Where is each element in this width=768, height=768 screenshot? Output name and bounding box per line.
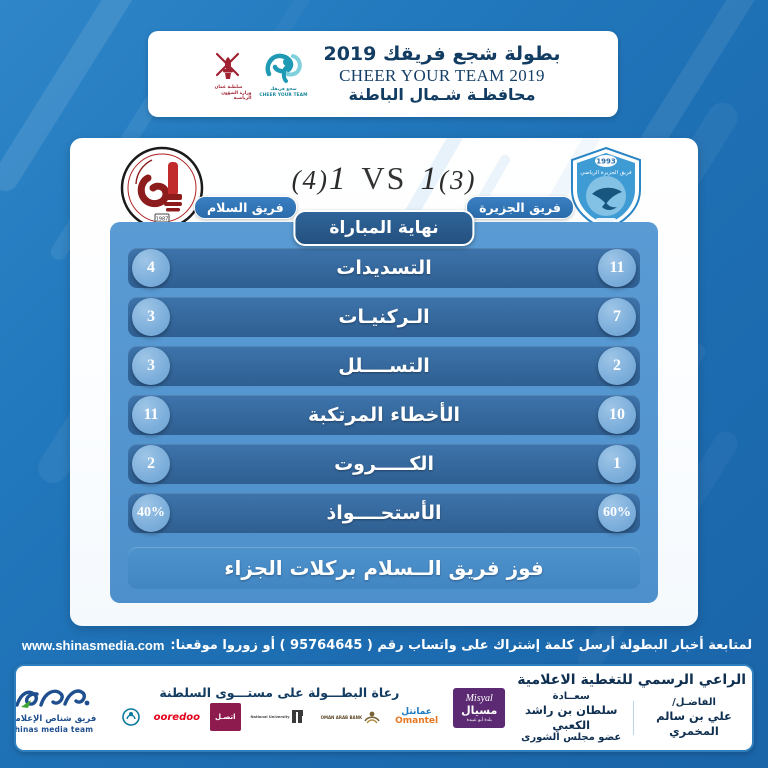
away-stat-value: 11 [598,249,636,287]
shinas-name-en: shinas media team [14,725,93,734]
sponsor-person-b: سعــادة سلطان بن راشد الكعبي عضو مجلس ال… [517,691,625,745]
tournament-title-ar: بطولة شجع فريقك 2019 [323,43,560,65]
misyal-logo: Misyal مسيال بلدة أبو عبيدة [453,688,505,728]
stat-row: 11 التسديدات 4 [128,248,640,288]
poster-root: بطولة شجع فريقك 2019 CHEER YOUR TEAM 201… [0,0,768,768]
tournament-header-card: بطولة شجع فريقك 2019 CHEER YOUR TEAM 201… [148,31,618,117]
stat-row: 2 التســــلل 3 [128,346,640,386]
away-stat-value: 7 [598,298,636,336]
away-stat-value: 10 [598,396,636,434]
national-university-icon [290,708,308,726]
home-stat-value: 3 [132,347,170,385]
sponsors-title: رعاة البطـــولة على مستـــوى السلطنة [159,685,399,700]
sponsor-logo-national-university: National University [248,706,311,728]
footer-bar: الراعي الرسمي للتغطية الاعلامية الفاضـل/… [14,664,754,752]
home-stat-value: 40% [132,494,170,532]
home-stat-value: 2 [132,445,170,483]
home-score: 1 [329,161,348,197]
stat-row: 60% الأستحــــواذ 40% [128,493,640,533]
away-team-name-pill: فريق الجزيرة [466,196,574,219]
ministry-of-health-icon [121,707,141,727]
sponsor-logo-ministry-of-health [118,706,144,728]
stat-row: 7 الـركنيـات 3 [128,297,640,337]
home-stat-value: 4 [132,249,170,287]
stat-label: الـركنيـات [338,306,429,328]
match-card: 1987 1993 فريق الجزيرة الرياضي [70,138,698,626]
oman-khanjar-icon [211,48,245,84]
tournament-sponsors: رعاة البطـــولة على مستـــوى السلطنة عما… [112,666,448,750]
cheer-logo-caption-en: CHEER YOUR TEAM [259,93,307,98]
oman-arab-bank-icon [362,707,382,727]
stat-label: الكـــــروت [334,453,434,475]
home-stat-value: 11 [132,396,170,434]
website-url[interactable]: www.shinasmedia.com [16,638,171,653]
official-sponsor-title: الراعي الرسمي للتغطية الاعلامية [517,672,746,688]
sponsor-logo-ittisalat: اتصـل [210,703,241,731]
away-penalty-score: (3) [439,165,476,195]
stat-label: التسديدات [336,257,431,279]
oman-ministry-logo: سلطنة عمان وزارة الشؤون الرياضية [205,45,251,103]
sponsor-person-a-line1: الفاضـل/ [642,697,746,710]
misyal-logo-ar: مسيال [461,704,497,717]
official-sponsor-people: الفاضـل/ علي بن سالم المخمري سعــادة سلط… [517,691,746,745]
sponsor-person-b-line3: عضو مجلس الشورى [517,732,625,745]
stat-row: 1 الكـــــروت 2 [128,444,640,484]
away-score: 1 [420,161,439,197]
misyal-logo-sub: بلدة أبو عبيدة [467,718,492,723]
home-team-name-pill: فريق السلام [194,196,297,219]
shinas-name-ar: فريق شناص الإعلامي [14,714,96,724]
official-media-sponsor: الراعي الرسمي للتغطية الاعلامية الفاضـل/… [511,666,752,750]
misyal-logo-en: Misyal [466,693,493,704]
sponsors-logo-row: عمانتل Omantel OMAN ARAB BANK [118,703,442,731]
footer-divider [633,701,634,735]
home-stat-value: 3 [132,298,170,336]
oab-logo-text: OMAN ARAB BANK [321,715,363,720]
shinas-media-logo: فريق شناص الإعلامي shinas media team [14,683,96,734]
sponsor-person-a-line2: علي بن سالم المخمري [642,709,746,738]
score-display: (4)1VS1(3) [70,160,698,198]
sponsor-person-b-line1: سعــادة [517,691,625,704]
contact-text: لمتابعة أخبار البطولة أرسل كلمة إشتراك ع… [170,638,752,653]
tournament-titles: بطولة شجع فريقك 2019 CHEER YOUR TEAM 201… [323,43,560,104]
sponsor-logo-omantel: عمانتل Omantel [392,706,441,728]
contact-strip: لمتابعة أخبار البطولة أرسل كلمة إشتراك ع… [0,632,768,658]
shinas-logo-icon [14,683,93,713]
omantel-logo-en: Omantel [395,717,438,726]
statistics-panel: 11 التسديدات 4 7 الـركنيـات 3 2 التســــ… [110,222,658,603]
home-penalty-score: (4) [292,165,329,195]
cheer-logo-caption-ar: شجع فريقك [270,87,297,92]
nu-logo-text: National University [251,715,290,719]
tournament-governorate: محافظـة شـمال الباطنة [323,86,560,105]
sponsors-wrap: رعاة البطـــولة على مستـــوى السلطنة عما… [118,685,442,731]
away-stat-value: 60% [598,494,636,532]
shinas-media-team-block: فريق شناص الإعلامي shinas media team [14,666,112,750]
header-logos: شجع فريقك CHEER YOUR TEAM سلطنة عمان وزا… [205,45,309,103]
stat-row: 10 الأخطاء المرتكبة 11 [128,395,640,435]
cheer-logo-icon [263,50,303,86]
stat-label: الأستحــــواذ [326,502,441,524]
match-result-banner: فوز فريق الــسلام بركلات الجزاء [128,547,640,589]
away-stat-value: 1 [598,445,636,483]
oman-logo-caption-sub: وزارة الشؤون الرياضية [205,91,251,101]
tournament-title-en: CHEER YOUR TEAM 2019 [323,66,560,86]
match-status-badge: نهاية المباراة [293,210,474,246]
sponsor-person-b-line2: سلطان بن راشد الكعبي [517,703,625,732]
away-stat-value: 2 [598,347,636,385]
misyal-sponsor-logo: Misyal مسيال بلدة أبو عبيدة [447,666,511,750]
stat-label: الأخطاء المرتكبة [308,404,460,426]
cheer-your-team-logo: شجع فريقك CHEER YOUR TEAM [257,45,309,103]
sponsor-person-a: الفاضـل/ علي بن سالم المخمري [642,697,746,738]
oman-logo-caption-ar: سلطنة عمان [215,85,243,90]
vs-label: VS [348,160,421,196]
sponsor-logo-oman-arab-bank: OMAN ARAB BANK [318,706,386,728]
stat-label: التســــلل [338,355,429,377]
sponsor-logo-ooredoo: ooredoo [151,706,203,728]
